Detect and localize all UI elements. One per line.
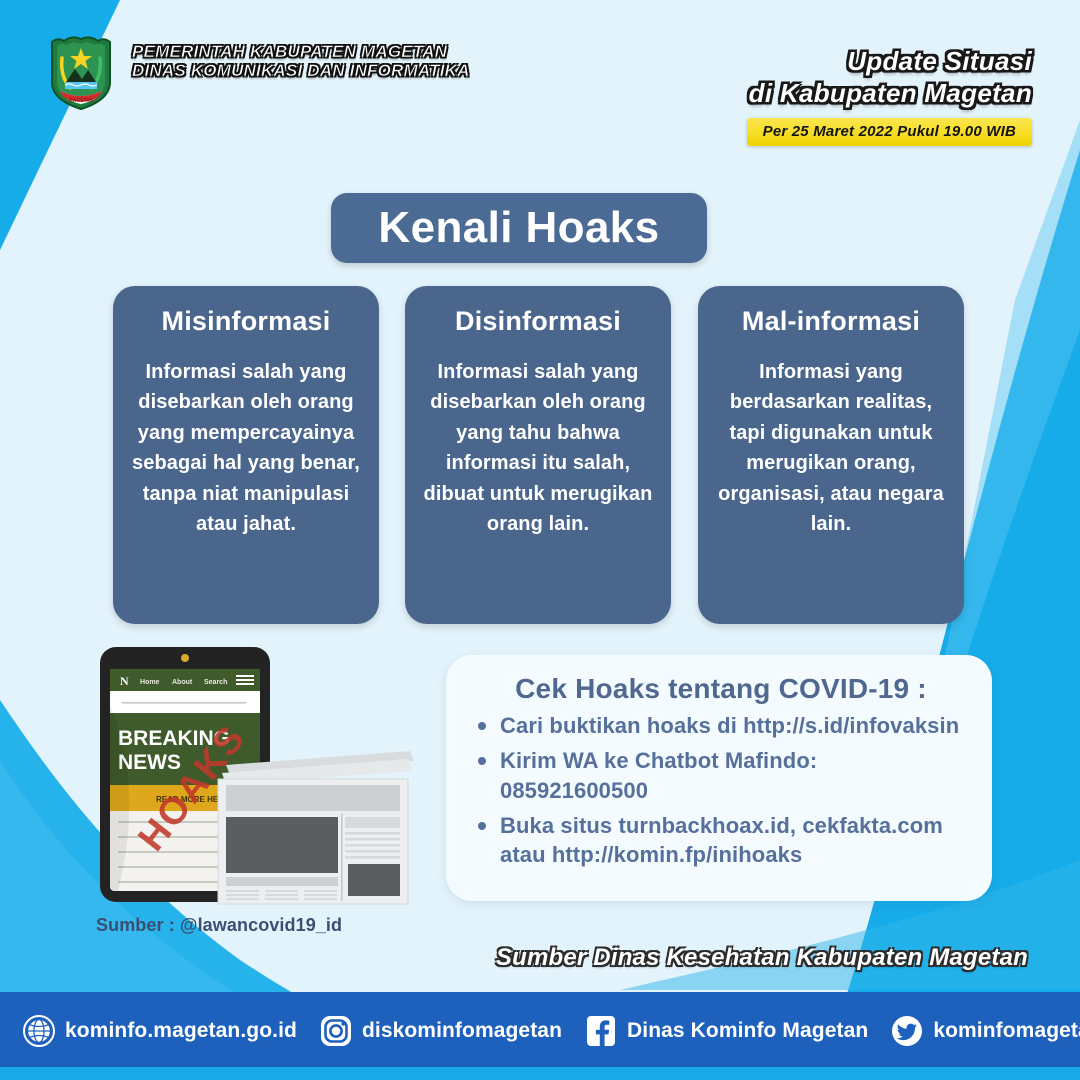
cek-hoaks-panel: Cek Hoaks tentang COVID-19 : Cari buktik…	[446, 655, 992, 901]
nav-item-home: Home	[140, 679, 160, 686]
facebook-icon	[584, 1014, 618, 1048]
update-line-2: di Kabupaten Magetan	[747, 78, 1032, 110]
twitter-icon	[890, 1014, 924, 1048]
list-item: Cari buktikan hoaks di http://s.id/infov…	[474, 711, 968, 740]
newspaper-masthead	[226, 785, 400, 811]
card-title: Mal-informasi	[714, 306, 948, 337]
newspaper-photo-main	[226, 817, 338, 873]
newspaper-illustration	[218, 751, 414, 904]
date-badge: Per 25 Maret 2022 Pukul 19.00 WIB	[747, 118, 1032, 146]
footer-label-facebook: Dinas Kominfo Magetan	[627, 1019, 868, 1043]
gov-line-1: PEMERINTAH KABUPATEN MAGETAN	[132, 42, 470, 61]
footer-label-website: kominfo.magetan.go.id	[65, 1019, 297, 1043]
cek-hoaks-list: Cari buktikan hoaks di http://s.id/infov…	[474, 711, 968, 869]
card-disinformasi: Disinformasi Informasi salah yang diseba…	[405, 286, 671, 624]
update-heading: Update Situasi di Kabupaten Magetan Per …	[747, 46, 1032, 146]
card-title: Disinformasi	[421, 306, 655, 337]
page-title: Kenali Hoaks	[331, 193, 707, 263]
magetan-regency-emblem-icon: MAGETAN	[44, 32, 118, 110]
list-item: Buka situs turnbackhoax.id, cekfakta.com…	[474, 811, 968, 870]
card-misinformasi: Misinformasi Informasi salah yang diseba…	[113, 286, 379, 624]
tablet-camera-icon	[181, 654, 189, 662]
news-site-logo: N	[120, 674, 129, 688]
card-title: Misinformasi	[129, 306, 363, 337]
headline-line-2: NEWS	[118, 751, 181, 774]
card-body: Informasi salah yang disebarkan oleh ora…	[421, 357, 655, 539]
card-body: Informasi yang berdasarkan realitas, tap…	[714, 357, 948, 539]
card-body: Informasi salah yang disebarkan oleh ora…	[129, 357, 363, 539]
source-instagram: Sumber : @lawancovid19_id	[96, 915, 342, 936]
source-dinkes: Sumber Dinas Kesehatan Kabupaten Magetan	[496, 944, 1028, 972]
gov-line-2: DINAS KOMUNIKASI DAN INFORMATIKA	[132, 61, 470, 80]
globe-icon	[22, 1014, 56, 1048]
page-title-label: Kenali Hoaks	[378, 203, 659, 253]
definition-cards: Misinformasi Informasi salah yang diseba…	[113, 286, 967, 624]
footer-item-facebook[interactable]: Dinas Kominfo Magetan	[584, 1014, 868, 1048]
card-mal-informasi: Mal-informasi Informasi yang berdasarkan…	[698, 286, 964, 624]
update-line-1: Update Situasi	[747, 46, 1032, 78]
footer-item-twitter[interactable]: kominfomagetan1	[890, 1014, 1080, 1048]
instagram-icon	[319, 1014, 353, 1048]
hoax-news-illustration: N Home About Search BREAKING NEWS READ M…	[96, 645, 416, 913]
svg-text:MAGETAN: MAGETAN	[69, 98, 94, 104]
government-title: PEMERINTAH KABUPATEN MAGETAN DINAS KOMUN…	[132, 42, 470, 80]
cek-hoaks-title: Cek Hoaks tentang COVID-19 :	[474, 673, 968, 705]
nav-item-search: Search	[204, 679, 227, 686]
header: MAGETAN PEMERINTAH KABUPATEN MAGETAN DIN…	[0, 0, 1080, 160]
hamburger-menu-icon	[236, 675, 254, 685]
list-item: Kirim WA ke Chatbot Mafindo: 08592160050…	[474, 746, 968, 805]
footer-item-website[interactable]: kominfo.magetan.go.id	[22, 1014, 297, 1048]
footer-item-instagram[interactable]: diskominfomagetan	[319, 1014, 562, 1048]
newspaper-photo-secondary	[348, 864, 400, 896]
footer-label-instagram: diskominfomagetan	[362, 1019, 562, 1043]
poster-canvas: MAGETAN PEMERINTAH KABUPATEN MAGETAN DIN…	[0, 0, 1080, 1080]
footer-accent-strip	[0, 1067, 1080, 1080]
footer-label-twitter: kominfomagetan1	[933, 1019, 1080, 1043]
nav-item-about: About	[172, 679, 193, 686]
